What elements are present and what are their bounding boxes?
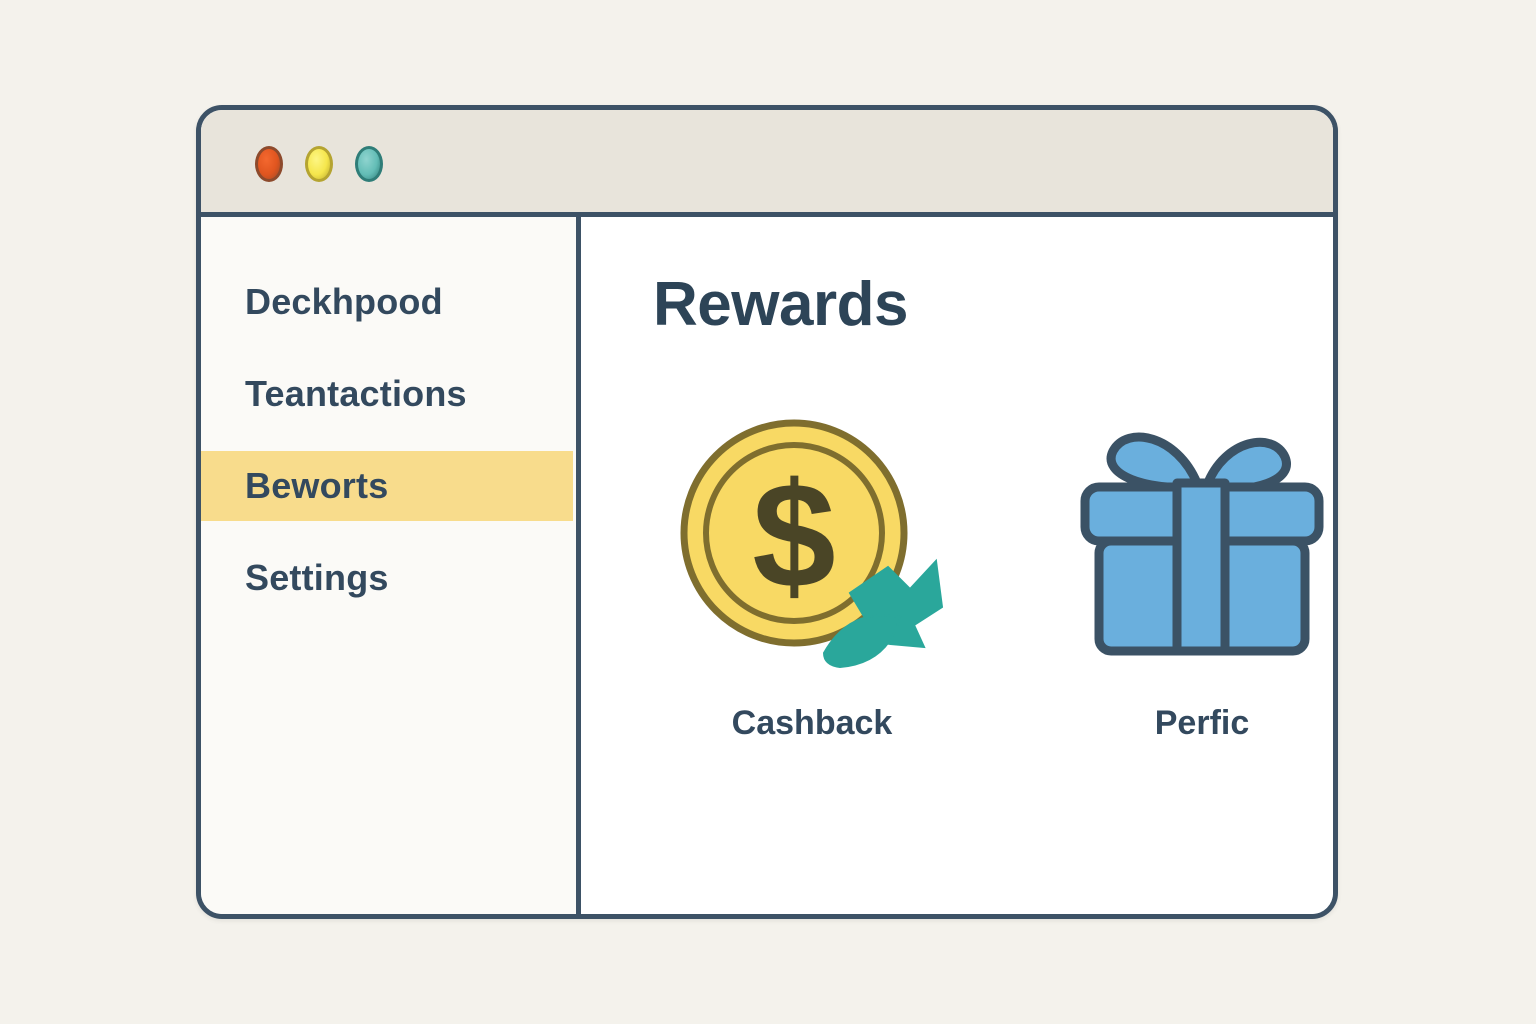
coin-dollar-icon: $: [674, 406, 950, 676]
sidebar-item-label: Deckhpood: [245, 281, 443, 323]
minimize-button[interactable]: [305, 146, 333, 182]
sidebar-nav: Deckhpood Teantactions Beworts Settings: [201, 217, 581, 914]
sidebar-item-teantactions[interactable]: Teantactions: [201, 359, 576, 429]
page-title: Rewards: [653, 269, 1338, 340]
sidebar-item-label: Beworts: [245, 465, 388, 507]
sidebar-item-label: Teantactions: [245, 373, 467, 415]
traffic-light-group: [255, 146, 383, 182]
reward-card-label: Perfic: [1155, 704, 1250, 743]
window-body: Deckhpood Teantactions Beworts Settings …: [201, 217, 1333, 914]
reward-card-cashback[interactable]: $ Cashback: [667, 406, 957, 743]
svg-text:$: $: [752, 451, 835, 619]
sidebar-item-label: Settings: [245, 557, 389, 599]
main-content: Rewards $ Cashba: [581, 217, 1338, 914]
sidebar-item-deckhpood[interactable]: Deckhpood: [201, 267, 576, 337]
close-button[interactable]: [255, 146, 283, 182]
sidebar-item-beworts[interactable]: Beworts: [201, 451, 573, 521]
maximize-button[interactable]: [355, 146, 383, 182]
title-bar: [201, 110, 1333, 217]
gift-box-icon: [1069, 406, 1335, 676]
sidebar-item-settings[interactable]: Settings: [201, 543, 576, 613]
reward-card-perfic[interactable]: Perfic: [1057, 406, 1338, 743]
reward-card-label: Cashback: [732, 704, 893, 743]
app-window: Deckhpood Teantactions Beworts Settings …: [196, 105, 1338, 919]
rewards-grid: $ Cashback: [653, 406, 1338, 743]
